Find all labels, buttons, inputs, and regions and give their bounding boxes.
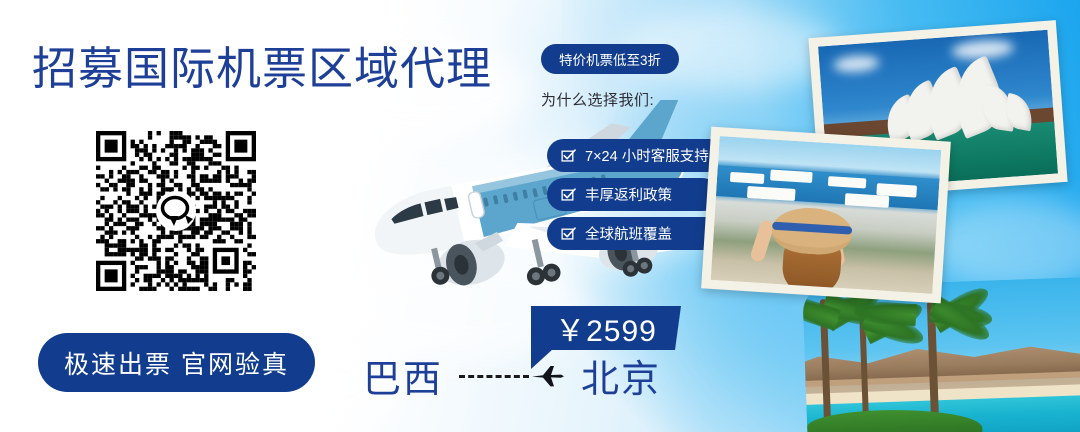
price-value: ￥2599 <box>555 306 657 350</box>
checked-box-icon <box>561 187 576 202</box>
route-dashed-line <box>459 375 529 378</box>
feature-item-rebate[interactable]: 丰厚返利政策 <box>547 178 719 211</box>
promo-badge-label: 特价机票低至3折 <box>559 49 661 69</box>
feature-label: 7×24 小时客服支持 <box>585 145 709 166</box>
checked-box-icon <box>561 148 576 163</box>
feature-item-coverage[interactable]: 全球航班覆盖 <box>547 217 725 250</box>
page-title: 招募国际机票区域代理 <box>32 42 492 95</box>
promo-banner: 招募国际机票区域代理 极速出票 官网验真 特价机票低至3折 为什么选择我们: 7… <box>0 0 1080 432</box>
route-origin: 巴西 <box>363 348 443 403</box>
promo-badge[interactable]: 特价机票低至3折 <box>541 44 679 74</box>
checked-box-icon <box>561 226 576 241</box>
marina-traveler-photo <box>701 127 951 304</box>
route-connector <box>459 363 565 389</box>
verify-cta-button[interactable]: 极速出票 官网验真 <box>38 333 315 392</box>
airplane-icon <box>531 363 565 389</box>
route-destination: 北京 <box>581 348 661 403</box>
feature-label: 全球航班覆盖 <box>585 223 672 244</box>
qr-code[interactable] <box>96 131 256 291</box>
qr-code-canvas <box>96 131 256 291</box>
tropical-beach-photo <box>802 277 1080 432</box>
price-callout[interactable]: ￥2599 <box>531 306 681 350</box>
route-display: 巴西 北京 <box>363 348 661 403</box>
why-choose-us-label: 为什么选择我们: <box>541 89 654 110</box>
verify-cta-label: 极速出票 官网验真 <box>64 345 289 381</box>
feature-label: 丰厚返利政策 <box>585 184 672 205</box>
